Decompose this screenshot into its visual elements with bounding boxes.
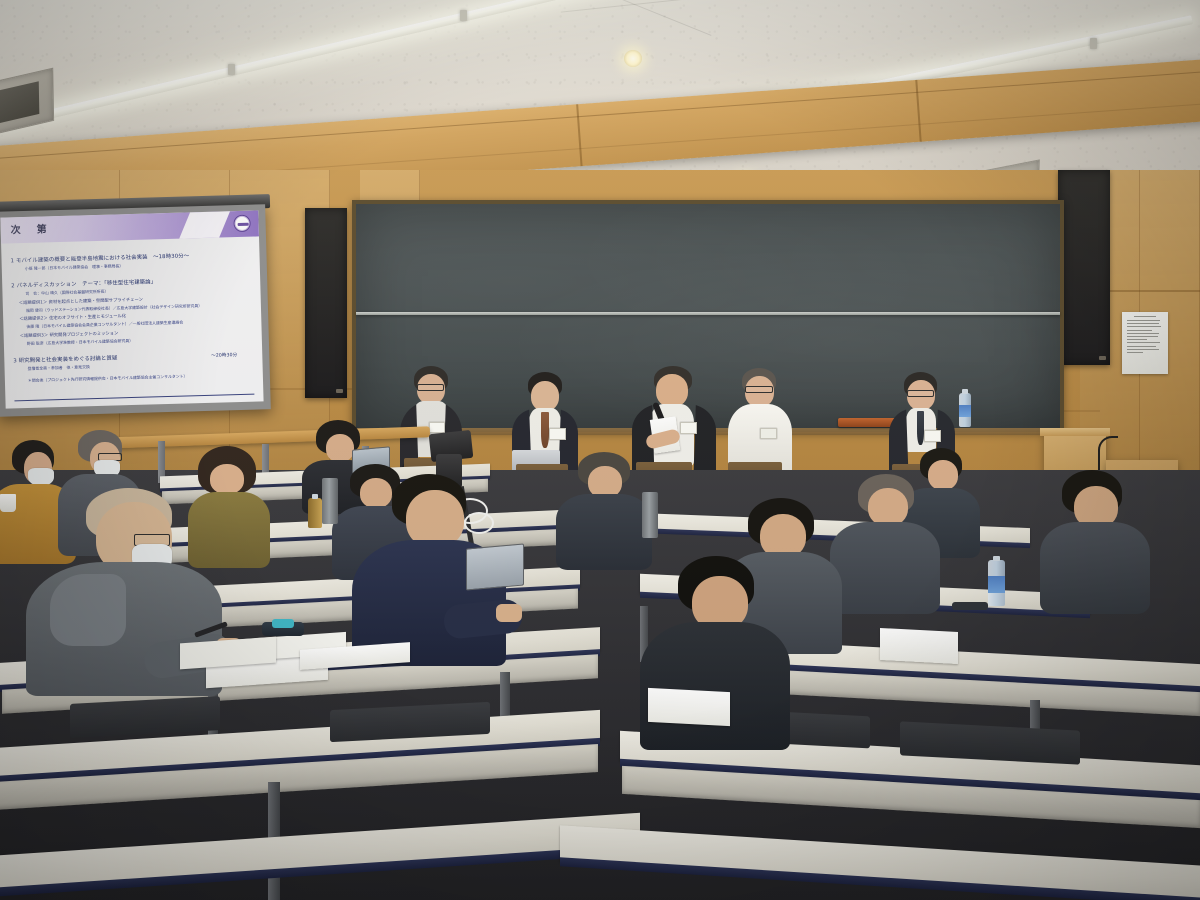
name-badge bbox=[760, 428, 777, 439]
suit-jacket bbox=[830, 522, 940, 614]
necktie bbox=[541, 412, 549, 448]
lectern-top bbox=[1040, 428, 1110, 436]
slide-title: 次 第 bbox=[10, 220, 49, 236]
projection-screen-frame: 次 第 1 モバイル建築の概要と能登半島地震における社会実装 〜18時30分〜小… bbox=[0, 204, 271, 417]
slide-line-time: 〜20時30分 bbox=[211, 351, 253, 358]
lecture-hall-photo: 次 第 1 モバイル建築の概要と能登半島地震における社会実装 〜18時30分〜小… bbox=[0, 0, 1200, 900]
blackboard-panel-divider bbox=[356, 312, 1060, 315]
wall-speaker-panel bbox=[305, 208, 347, 398]
jacket bbox=[556, 494, 652, 570]
name-badge bbox=[549, 428, 566, 440]
tablet[interactable] bbox=[466, 543, 524, 590]
top bbox=[188, 492, 270, 568]
hood bbox=[50, 574, 126, 646]
slide-footer-rule bbox=[14, 394, 254, 402]
water-bottle bbox=[988, 560, 1005, 606]
head bbox=[210, 464, 244, 494]
water-bottle bbox=[959, 393, 971, 427]
wall-notice bbox=[1122, 312, 1168, 374]
strip-light-bracket bbox=[228, 64, 235, 75]
necktie bbox=[917, 411, 924, 445]
projection-screen[interactable]: 次 第 1 モバイル建築の概要と能登半島地震における社会実装 〜18時30分〜小… bbox=[0, 210, 263, 408]
wall-speaker-panel bbox=[1058, 170, 1110, 365]
name-badge bbox=[924, 430, 941, 442]
audience-member-center bbox=[556, 452, 652, 562]
name-badge bbox=[429, 422, 445, 433]
audience-member-far-right bbox=[1040, 470, 1150, 600]
head bbox=[656, 374, 688, 407]
paper-cup bbox=[0, 494, 16, 512]
strip-light-bracket bbox=[1090, 38, 1097, 49]
head bbox=[531, 381, 559, 411]
eyeglasses bbox=[952, 602, 988, 610]
glasses-icon bbox=[745, 386, 773, 393]
name-badge bbox=[680, 422, 697, 434]
paper-handout bbox=[648, 688, 730, 726]
slide-line-text: 3 研究開発と社会実装をめぐる討論と質疑 bbox=[13, 353, 117, 364]
glasses-icon bbox=[907, 390, 934, 397]
audience-member-gray-suit bbox=[830, 474, 940, 604]
slide-body: 1 モバイル建築の概要と能登半島地震における社会実装 〜18時30分〜小篠 隆一… bbox=[1, 237, 263, 384]
audience-member-olive bbox=[182, 446, 274, 564]
thermos-flask bbox=[642, 492, 658, 538]
hand bbox=[496, 604, 522, 622]
ceiling-downlight bbox=[624, 50, 642, 67]
glasses-icon bbox=[417, 384, 444, 391]
strip-light-bracket bbox=[460, 10, 467, 21]
head bbox=[326, 434, 354, 462]
head bbox=[868, 488, 908, 526]
thermos-flask bbox=[322, 478, 338, 524]
jacket bbox=[1040, 522, 1150, 614]
suit-jacket bbox=[640, 622, 790, 750]
pencil-case-accent bbox=[272, 619, 294, 628]
paper-handout bbox=[880, 628, 958, 664]
beverage-bottle bbox=[308, 498, 322, 528]
